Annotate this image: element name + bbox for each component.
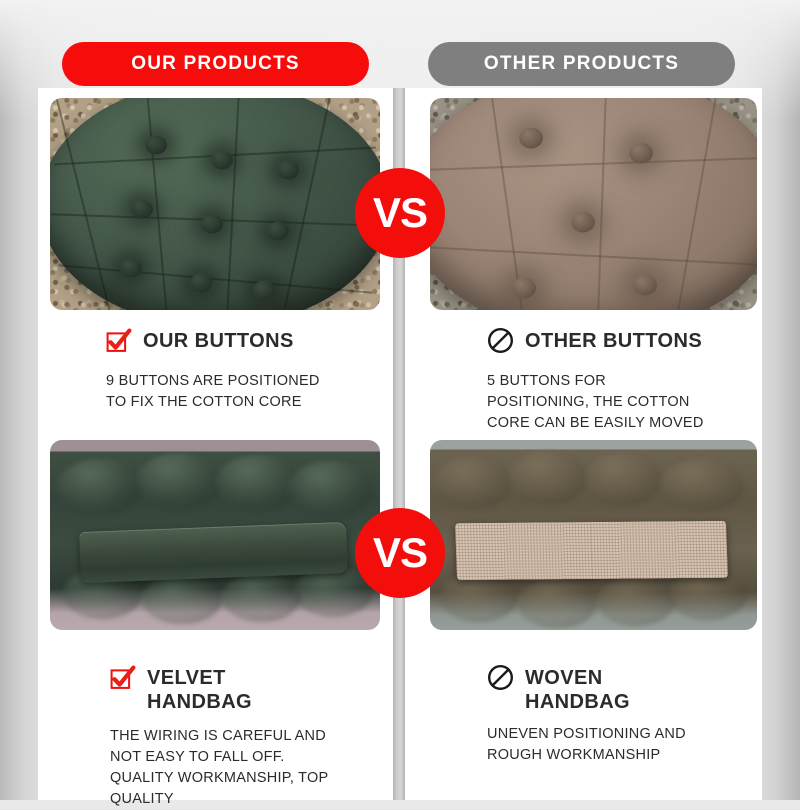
- cushion-button: [512, 277, 536, 298]
- cushion-button: [267, 222, 289, 241]
- feature-velvet-handbag: VELVET HANDBAG THE WIRING IS CAREFUL AND…: [110, 666, 380, 810]
- feature-heading: OUR BUTTONS: [106, 329, 371, 354]
- woven-handbag-product-image: [430, 440, 757, 630]
- cushion-button: [277, 160, 299, 179]
- woven-handle-strap: [455, 521, 728, 580]
- cushion-button: [571, 211, 595, 232]
- velvet-handbag-product-image: [50, 440, 380, 630]
- vs-badge-top: VS: [355, 168, 445, 258]
- feature-woven-handbag: WOVEN HANDBAG UNEVEN POSITIONING AND ROU…: [487, 666, 757, 766]
- vs-badge-bottom: VS: [355, 508, 445, 598]
- feature-title: VELVET HANDBAG: [147, 666, 252, 714]
- feature-heading: WOVEN HANDBAG: [487, 666, 757, 714]
- cushion-button: [190, 273, 212, 292]
- green-cushion: [50, 98, 380, 310]
- cushion-button: [633, 275, 657, 296]
- feature-our-buttons: OUR BUTTONS 9 BUTTONS ARE POSITIONED TO …: [106, 329, 371, 413]
- cushion-button: [145, 135, 167, 154]
- cushion-button: [120, 258, 142, 277]
- brown-cushion: [430, 98, 757, 310]
- feature-description: THE WIRING IS CAREFUL AND NOT EASY TO FA…: [110, 726, 380, 810]
- our-products-header-badge: OUR PRODUCTS: [62, 42, 369, 86]
- other-products-header-badge: OTHER PRODUCTS: [428, 42, 735, 86]
- other-buttons-product-image: [430, 98, 757, 310]
- feature-description: 9 BUTTONS ARE POSITIONED TO FIX THE COTT…: [106, 371, 371, 413]
- our-buttons-product-image: [50, 98, 380, 310]
- feature-description: 5 BUTTONS FOR POSITIONING, THE COTTON CO…: [487, 371, 757, 434]
- feature-other-buttons: OTHER BUTTONS 5 BUTTONS FOR POSITIONING,…: [487, 329, 757, 434]
- feature-title: OUR BUTTONS: [143, 329, 294, 354]
- ban-icon: [487, 327, 514, 354]
- feature-title: OTHER BUTTONS: [525, 329, 702, 354]
- check-box-icon: [110, 665, 136, 691]
- cushion-button: [131, 199, 153, 218]
- ban-icon: [487, 664, 514, 691]
- cushion-button: [253, 281, 275, 300]
- feature-heading: OTHER BUTTONS: [487, 329, 757, 354]
- feature-title: WOVEN HANDBAG: [525, 666, 630, 714]
- feature-description: UNEVEN POSITIONING AND ROUGH WORKMANSHIP: [487, 724, 757, 766]
- feature-heading: VELVET HANDBAG: [110, 666, 380, 714]
- cushion-button: [519, 127, 543, 148]
- cushion-button: [629, 143, 653, 164]
- cushion-button: [201, 214, 223, 233]
- cushion-button: [211, 150, 233, 169]
- check-box-icon: [106, 328, 132, 354]
